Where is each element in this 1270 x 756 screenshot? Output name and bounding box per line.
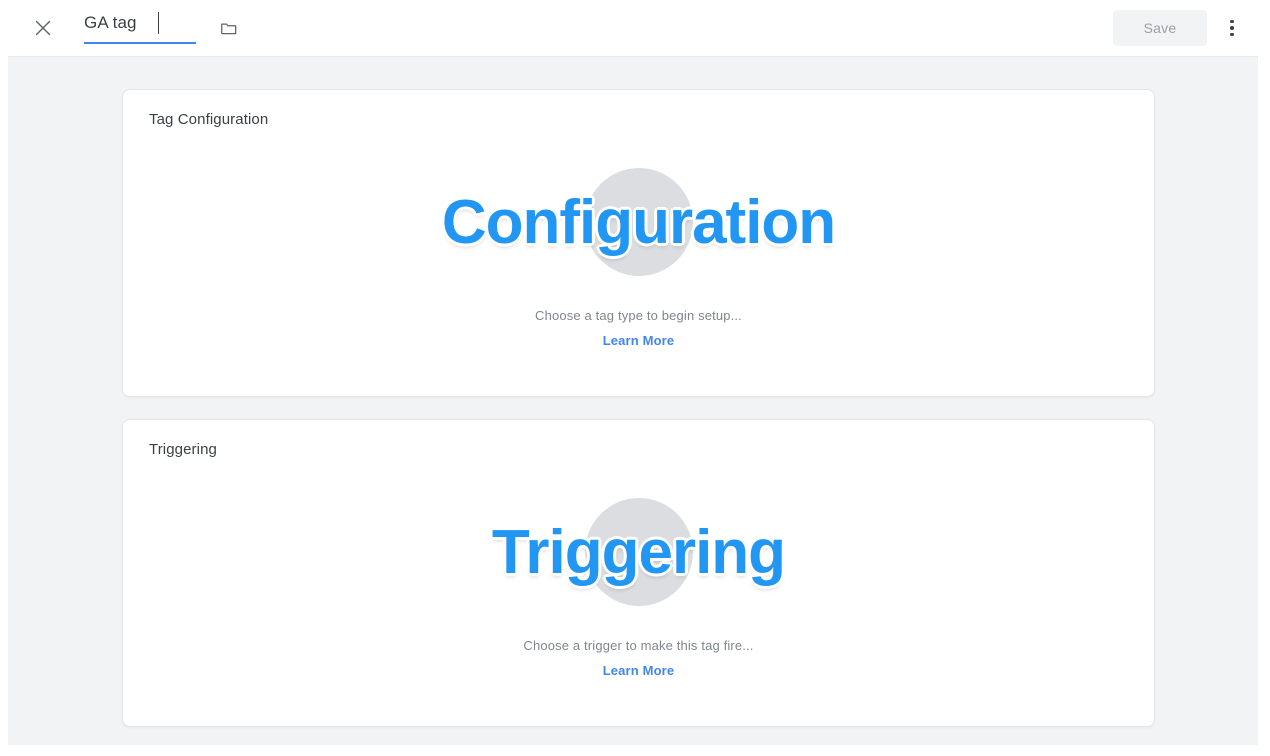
triggering-hint: Choose a trigger to make this tag fire..… (523, 638, 753, 653)
tag-name-input[interactable]: GA tag (84, 10, 137, 36)
triggering-hero: Triggering (123, 482, 1154, 622)
editor-header: GA tag Save (0, 0, 1270, 56)
triggering-label: Triggering (149, 441, 217, 458)
folder-button[interactable] (212, 12, 244, 44)
close-button[interactable] (27, 12, 59, 44)
triggering-placeholder[interactable]: Triggering Choose a trigger to make this… (123, 482, 1154, 712)
more-options-button[interactable] (1216, 12, 1248, 44)
configuration-hero-text: Configuration (442, 187, 835, 258)
tag-name-underline (84, 42, 196, 44)
triggering-card[interactable]: Triggering Triggering Choose a trigger t… (122, 419, 1155, 727)
tag-configuration-hint: Choose a tag type to begin setup... (535, 308, 742, 323)
close-icon (33, 18, 53, 38)
text-caret (158, 12, 159, 34)
folder-icon (219, 19, 238, 38)
editor-body: Tag Configuration Configuration Choose a… (8, 56, 1258, 745)
tag-configuration-label: Tag Configuration (149, 111, 268, 128)
tag-editor-window: GA tag Save Tag Configuration (0, 0, 1270, 756)
more-dot (1230, 33, 1234, 37)
triggering-learn-more-link[interactable]: Learn More (603, 663, 675, 678)
more-dot (1230, 26, 1234, 30)
tag-configuration-learn-more-link[interactable]: Learn More (603, 333, 675, 348)
tag-name-field[interactable]: GA tag (84, 10, 196, 44)
configuration-hero: Configuration (123, 152, 1154, 292)
tag-configuration-card[interactable]: Tag Configuration Configuration Choose a… (122, 89, 1155, 397)
tag-configuration-placeholder[interactable]: Configuration Choose a tag type to begin… (123, 152, 1154, 382)
more-vert-icon (1230, 18, 1234, 38)
save-button[interactable]: Save (1113, 10, 1207, 46)
more-dot (1230, 20, 1234, 24)
triggering-hero-text: Triggering (492, 517, 785, 588)
